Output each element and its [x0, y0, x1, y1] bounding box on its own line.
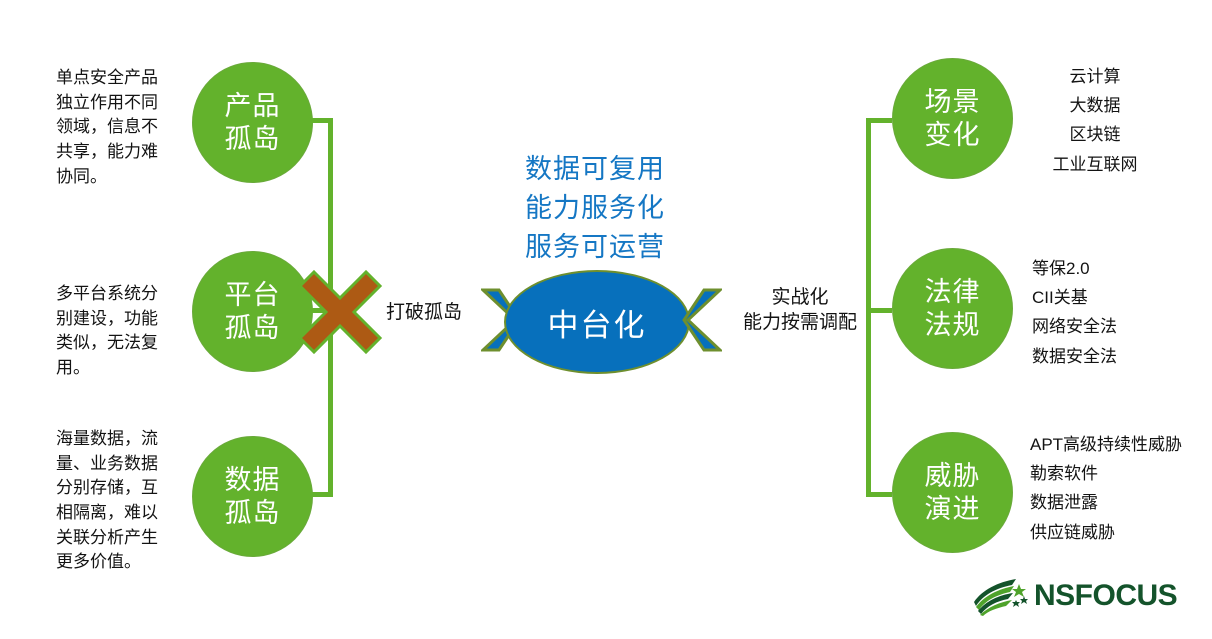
right-keywords-threat-evolution: APT高级持续性威胁 勒索软件 数据泄露 供应链威胁: [1030, 430, 1210, 547]
left-pointing-chevron-svg: [682, 288, 722, 352]
slogan-block: 数据可复用 能力服务化 服务可运营: [455, 150, 735, 267]
keyword-item: 供应链威胁: [1030, 518, 1210, 547]
left-description-platform: 多平台系统分 别建设，功能 类似，无法复 用。: [56, 282, 188, 381]
right-circle-scenario-change-line2: 变化: [925, 119, 981, 152]
left-circle-product-island-line1: 产品: [225, 90, 281, 123]
right-circle-scenario-change-line1: 场景: [925, 86, 981, 119]
right-circle-threat-evolution-line1: 威胁: [925, 460, 981, 493]
right-arrow-caption: 实战化 能力按需调配: [726, 286, 874, 335]
left-circle-data-island[interactable]: 数据 孤岛: [192, 436, 313, 557]
center-oval-zhongtaihua[interactable]: 中台化: [504, 270, 690, 374]
keyword-item: 大数据: [1020, 91, 1170, 120]
right-keywords-laws-regulations: 等保2.0 CII关基 网络安全法 数据安全法: [1032, 254, 1202, 371]
keyword-item: CII关基: [1032, 283, 1202, 312]
left-circle-platform-island-line1: 平台: [225, 279, 281, 312]
keyword-item: 数据泄露: [1030, 488, 1210, 517]
right-circle-threat-evolution-line2: 演进: [925, 493, 981, 526]
left-circle-platform-island-line2: 孤岛: [225, 312, 281, 345]
keyword-item: 云计算: [1020, 62, 1170, 91]
right-circle-threat-evolution[interactable]: 威胁 演进: [892, 432, 1013, 553]
keyword-item: 等保2.0: [1032, 254, 1202, 283]
slogan-line-3: 服务可运营: [455, 228, 735, 267]
left-circle-product-island[interactable]: 产品 孤岛: [192, 62, 313, 183]
left-circle-platform-island[interactable]: 平台 孤岛: [192, 251, 313, 372]
left-description-data: 海量数据，流 量、业务数据 分别存储，互 相隔离，难以 关联分析产生 更多价值。: [56, 427, 188, 575]
right-circle-scenario-change[interactable]: 场景 变化: [892, 58, 1013, 179]
right-keywords-scenario-change: 云计算 大数据 区块链 工业互联网: [1020, 62, 1170, 179]
nsfocus-logo: NSFOCUS: [972, 576, 1184, 620]
right-arrow-caption-line1: 实战化: [726, 286, 874, 311]
keyword-item: 勒索软件: [1030, 459, 1210, 488]
keyword-item: 区块链: [1020, 120, 1170, 149]
nsfocus-flag-icon: [972, 576, 1032, 618]
slogan-line-2: 能力服务化: [455, 189, 735, 228]
center-oval-label: 中台化: [548, 300, 647, 345]
left-pointing-chevron-icon: [682, 288, 722, 357]
right-connector-stub-top: [866, 118, 892, 123]
right-connector-stub-bottom: [866, 492, 892, 497]
keyword-item: 工业互联网: [1020, 150, 1170, 179]
diagram-canvas: 单点安全产品 独立作用不同 领域，信息不 共享，能力难 协同。 多平台系统分 别…: [0, 0, 1212, 639]
break-isolation-x-svg: [296, 268, 384, 356]
nsfocus-wordmark: NSFOCUS: [1034, 579, 1177, 613]
slogan-line-1: 数据可复用: [455, 150, 735, 189]
left-circle-data-island-line2: 孤岛: [225, 497, 281, 530]
right-circle-laws-regulations-line1: 法律: [925, 276, 981, 309]
left-description-product: 单点安全产品 独立作用不同 领域，信息不 共享，能力难 协同。: [56, 66, 188, 189]
left-arrow-caption: 打破孤岛: [386, 300, 462, 326]
left-circle-data-island-line1: 数据: [225, 464, 281, 497]
keyword-item: APT高级持续性威胁: [1030, 430, 1210, 459]
keyword-item: 网络安全法: [1032, 312, 1202, 341]
right-arrow-caption-line2: 能力按需调配: [726, 311, 874, 336]
right-connector-stub-middle: [866, 308, 892, 313]
break-isolation-x-icon: [296, 268, 384, 356]
keyword-item: 数据安全法: [1032, 342, 1202, 371]
right-circle-laws-regulations[interactable]: 法律 法规: [892, 248, 1013, 369]
right-circle-laws-regulations-line2: 法规: [925, 309, 981, 342]
left-circle-product-island-line2: 孤岛: [225, 123, 281, 156]
